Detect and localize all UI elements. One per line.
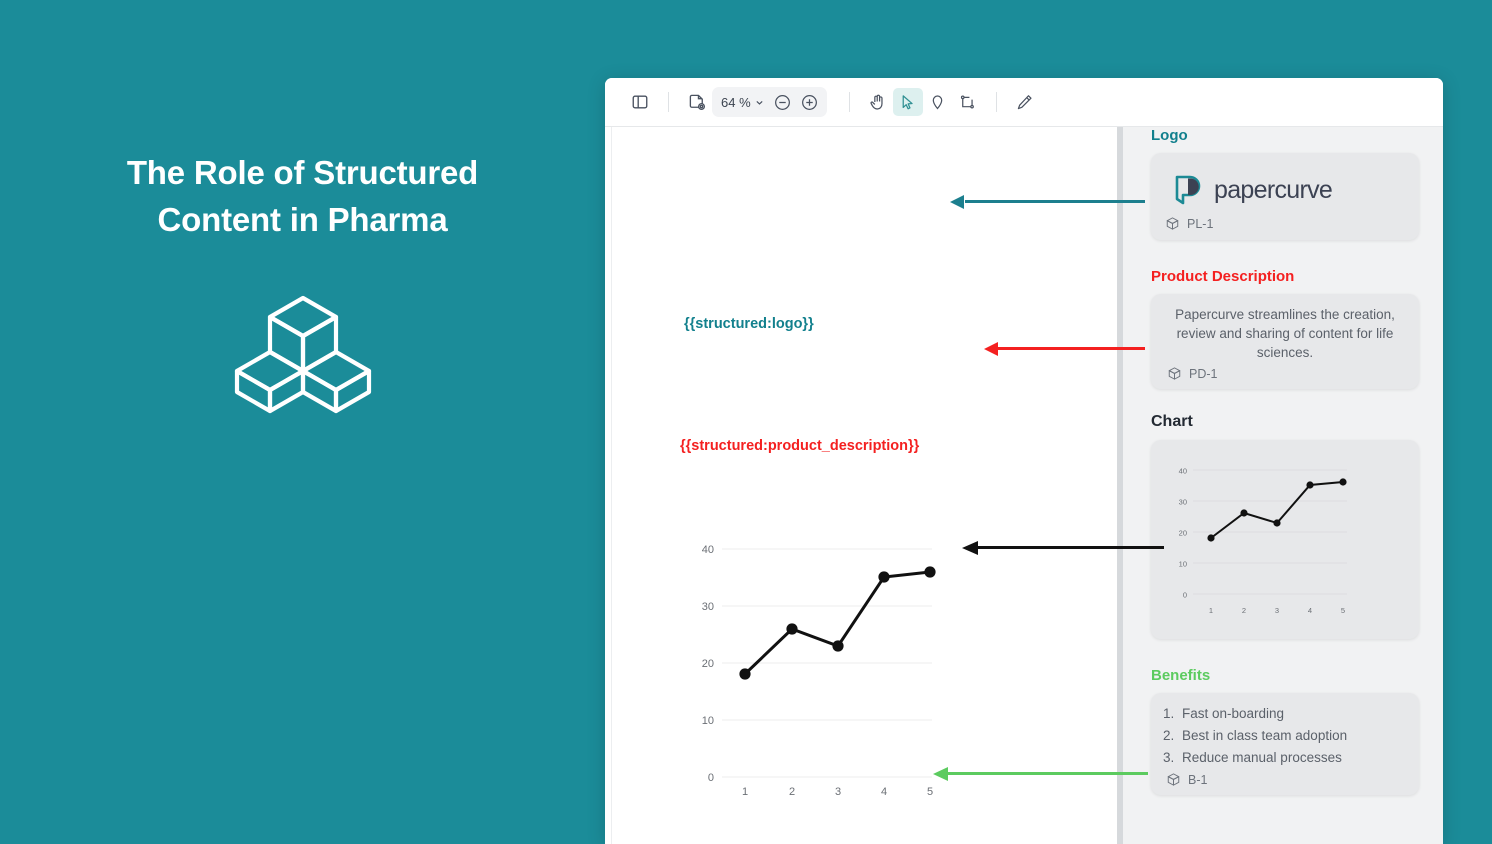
slide-left-panel: The Role of Structured Content in Pharma — [0, 0, 605, 844]
y-tick-20: 20 — [1179, 529, 1187, 538]
sidebar-section-logo: Logo papercurve PL-1 — [1151, 127, 1419, 240]
chart-point — [1240, 510, 1247, 517]
select-tool-button[interactable] — [893, 88, 923, 116]
zoom-level-dropdown[interactable]: 64 % — [721, 95, 768, 110]
pin-tool-button[interactable] — [923, 88, 953, 116]
papercurve-wordmark: papercurve — [1214, 176, 1332, 205]
logo-card[interactable]: papercurve PL-1 — [1151, 153, 1419, 240]
toolbar-divider — [668, 92, 669, 112]
toolbar: 64 % — [605, 78, 1443, 127]
benefits-tag-label: B-1 — [1188, 773, 1207, 787]
chart-line — [1211, 482, 1343, 538]
sidebar-section-product-description: Product Description Papercurve streamlin… — [1151, 268, 1419, 389]
chart-point — [832, 640, 843, 651]
papercurve-mark-icon — [1173, 174, 1203, 206]
chart-point — [739, 668, 750, 679]
token-structured-product-description[interactable]: {{structured:product_description}} — [680, 438, 919, 454]
chart-line — [745, 572, 930, 674]
x-tick-3: 3 — [1275, 606, 1279, 615]
benefit-index: 3. — [1163, 747, 1177, 769]
x-tick-2: 2 — [789, 786, 795, 797]
arrow-head — [984, 342, 998, 356]
sidebar-chart: 40 30 20 10 0 1 2 3 4 5 — [1161, 452, 1353, 628]
x-tick-1: 1 — [1209, 606, 1213, 615]
zoom-in-button[interactable] — [798, 90, 822, 114]
package-cube-icon — [1165, 216, 1180, 231]
benefit-index: 1. — [1163, 703, 1177, 725]
arrow-shaft — [948, 772, 1148, 775]
arrow-head — [933, 767, 948, 781]
benefit-label: Fast on-boarding — [1182, 703, 1284, 725]
document-left-margin — [605, 127, 612, 844]
zoom-control-group: 64 % — [712, 87, 827, 117]
arrow-head — [950, 195, 964, 209]
token-structured-logo[interactable]: {{structured:logo}} — [684, 316, 814, 332]
package-cube-icon — [1167, 366, 1182, 381]
hand-tool-button[interactable] — [863, 88, 893, 116]
toolbar-divider — [996, 92, 997, 112]
logo-tag-label: PL-1 — [1187, 217, 1213, 231]
x-tick-1: 1 — [742, 786, 748, 797]
product-description-card[interactable]: Papercurve streamlines the creation, rev… — [1151, 294, 1419, 389]
chart-point — [924, 566, 935, 577]
chevron-down-icon — [755, 98, 764, 107]
x-tick-4: 4 — [1308, 606, 1312, 615]
chart-point — [1339, 479, 1346, 486]
benefits-card[interactable]: 1. Fast on-boarding 2. Best in class tea… — [1151, 693, 1419, 795]
arrow-head — [962, 541, 978, 555]
document-page[interactable]: {{structured:logo}} {{structured:product… — [612, 127, 1123, 844]
sidebar-toggle-button[interactable] — [625, 88, 655, 116]
benefits-card-tag: B-1 — [1163, 772, 1407, 787]
y-tick-40: 40 — [702, 544, 714, 556]
list-item: 2. Best in class team adoption — [1163, 725, 1407, 747]
x-tick-4: 4 — [881, 786, 887, 797]
page-title: The Role of Structured Content in Pharma — [88, 150, 518, 244]
chart-point — [1207, 535, 1214, 542]
section-heading-benefits: Benefits — [1151, 667, 1419, 684]
y-tick-30: 30 — [1179, 498, 1187, 507]
list-item: 3. Reduce manual processes — [1163, 747, 1407, 769]
crop-tool-button[interactable] — [953, 88, 983, 116]
x-tick-5: 5 — [1341, 606, 1345, 615]
y-tick-20: 20 — [702, 658, 714, 670]
page-settings-button[interactable] — [682, 88, 712, 116]
structured-content-sidebar: Logo papercurve PL-1 Product Description — [1127, 127, 1443, 844]
product-description-text: Papercurve streamlines the creation, rev… — [1167, 305, 1403, 362]
product-description-tag-label: PD-1 — [1189, 367, 1217, 381]
benefit-index: 2. — [1163, 725, 1177, 747]
x-tick-5: 5 — [927, 786, 933, 797]
papercurve-logo: papercurve — [1165, 165, 1405, 208]
document-scrollbar[interactable] — [1117, 127, 1123, 844]
section-heading-logo: Logo — [1151, 127, 1419, 144]
logo-card-tag: PL-1 — [1165, 216, 1405, 231]
pen-tool-button[interactable] — [1010, 88, 1040, 116]
y-tick-10: 10 — [702, 715, 714, 727]
product-description-card-tag: PD-1 — [1167, 366, 1403, 381]
chart-point — [1306, 482, 1313, 489]
x-tick-2: 2 — [1242, 606, 1246, 615]
chart-card[interactable]: 40 30 20 10 0 1 2 3 4 5 — [1151, 440, 1419, 639]
toolbar-divider — [849, 92, 850, 112]
list-item: 1. Fast on-boarding — [1163, 703, 1407, 725]
zoom-out-button[interactable] — [771, 90, 795, 114]
arrow-shaft — [998, 347, 1145, 350]
package-cube-icon — [1166, 772, 1181, 787]
benefit-label: Best in class team adoption — [1182, 725, 1347, 747]
y-tick-40: 40 — [1179, 467, 1187, 476]
chart-point — [786, 623, 797, 634]
section-heading-chart: Chart — [1151, 413, 1419, 431]
chart-point — [1273, 520, 1280, 527]
chart-point — [878, 571, 889, 582]
y-tick-0: 0 — [1183, 591, 1187, 600]
arrow-shaft — [965, 200, 1145, 203]
blocks-icon — [233, 290, 373, 425]
sidebar-section-benefits: Benefits 1. Fast on-boarding 2. Best in … — [1151, 667, 1419, 795]
y-tick-10: 10 — [1179, 560, 1187, 569]
x-tick-3: 3 — [835, 786, 841, 797]
section-heading-product-description: Product Description — [1151, 268, 1419, 285]
zoom-level-value: 64 % — [721, 95, 751, 110]
benefit-label: Reduce manual processes — [1182, 747, 1342, 769]
y-tick-30: 30 — [702, 601, 714, 613]
arrow-shaft — [978, 546, 1164, 549]
sidebar-section-chart: Chart 40 30 20 10 0 1 2 3 4 5 — [1151, 413, 1419, 639]
document-chart: 40 30 20 10 0 1 2 3 4 5 — [682, 527, 942, 802]
y-tick-0: 0 — [708, 772, 714, 784]
